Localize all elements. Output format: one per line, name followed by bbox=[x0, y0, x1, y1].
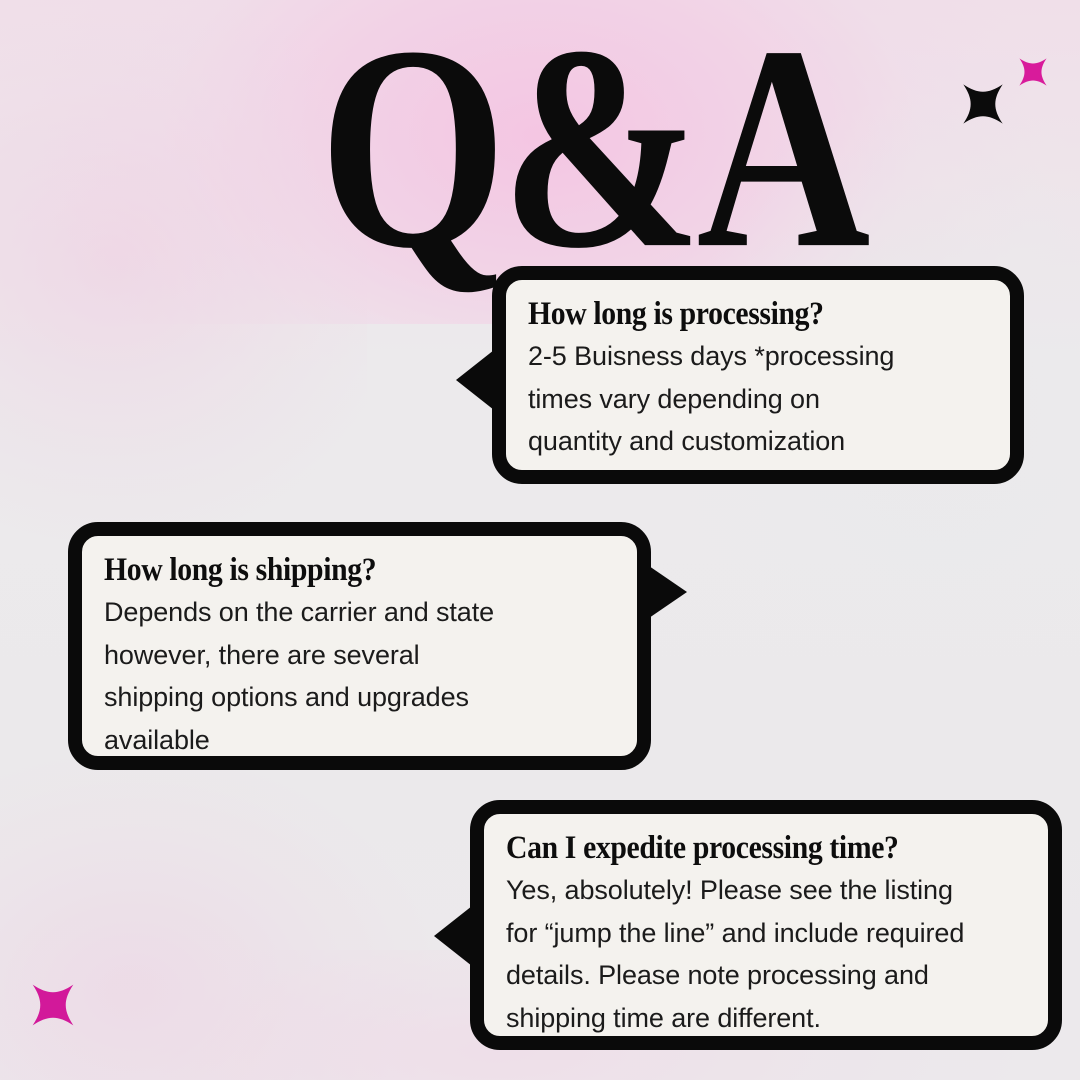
faq-bubble-content: How long is shipping? Depends on the car… bbox=[82, 536, 637, 780]
speech-bubble-tail-right bbox=[649, 566, 687, 618]
faq-answer: Depends on the carrier and state however… bbox=[104, 591, 615, 762]
faq-answer: Yes, absolutely! Please see the listing … bbox=[506, 869, 1026, 1040]
faq-answer: 2-5 Buisness days *processing times vary… bbox=[528, 335, 988, 463]
faq-bubble-shipping: How long is shipping? Depends on the car… bbox=[68, 522, 651, 770]
sparkle-star-icon bbox=[1012, 52, 1054, 92]
qa-graphic-canvas: Q&A How long is processing? 2-5 Buisness… bbox=[0, 0, 1080, 1080]
sparkle-star-icon bbox=[953, 75, 1013, 133]
faq-bubble-processing: How long is processing? 2-5 Buisness day… bbox=[492, 266, 1024, 484]
faq-bubble-content: Can I expedite processing time? Yes, abs… bbox=[484, 814, 1048, 1058]
faq-question: How long is shipping? bbox=[104, 552, 564, 589]
faq-bubble-content: How long is processing? 2-5 Buisness day… bbox=[506, 280, 1010, 481]
sparkle-star-icon bbox=[22, 975, 84, 1035]
page-title: Q&A bbox=[319, 2, 761, 293]
background-pink-glow-left bbox=[0, 0, 367, 562]
faq-question: How long is processing? bbox=[528, 296, 942, 333]
faq-question: Can I expedite processing time? bbox=[506, 830, 974, 867]
faq-bubble-expedite: Can I expedite processing time? Yes, abs… bbox=[470, 800, 1062, 1050]
speech-bubble-tail-left bbox=[434, 906, 472, 966]
speech-bubble-tail-left bbox=[456, 350, 494, 410]
